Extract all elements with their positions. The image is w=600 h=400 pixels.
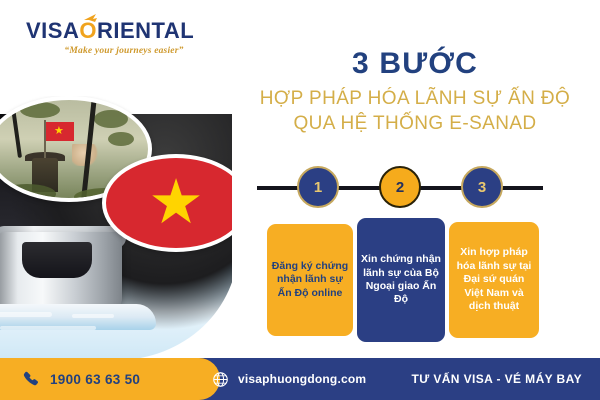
step-timeline: 1 2 3 (255, 166, 545, 210)
step-marker-1[interactable]: 1 (297, 166, 339, 208)
page-subtitle-line1: HỢP PHÁP HÓA LÃNH SỰ ẤN ĐỘ (240, 86, 590, 112)
footer-slogan: TƯ VẤN VISA - VÉ MÁY BAY (412, 358, 582, 400)
press-head (22, 242, 92, 278)
foliage (108, 132, 134, 146)
globe-icon (212, 371, 229, 388)
brand-logo[interactable]: VISA O RIENTAL “Make your journeys easie… (26, 20, 226, 56)
brand-o-letter: O (79, 20, 97, 42)
step-marker-3[interactable]: 3 (461, 166, 503, 208)
vietnam-flag-small: ★ (46, 122, 74, 141)
step-cards: Đăng ký chứng nhận lãnh sự Ấn Độ online … (267, 218, 542, 343)
footer-website-group[interactable]: visaphuongdong.com (212, 358, 366, 400)
heading-group: 3 BƯỚC HỢP PHÁP HÓA LÃNH SỰ ẤN ĐỘ QUA HỆ… (240, 48, 590, 137)
plate-highlight (72, 314, 114, 318)
footer-bar: 1900 63 63 50 visaphuongdong.com TƯ VẤN … (0, 358, 600, 400)
star-icon: ★ (148, 175, 204, 231)
page-title: 3 BƯỚC (240, 48, 590, 80)
footer-phone-group[interactable]: 1900 63 63 50 (22, 358, 140, 400)
brand-name-part1: VISA (26, 20, 79, 42)
step-card-2[interactable]: Xin chứng nhận lãnh sự của Bộ Ngoại giao… (357, 218, 445, 342)
footer-website-text: visaphuongdong.com (238, 372, 366, 386)
infographic-canvas: VISA O RIENTAL “Make your journeys easie… (0, 0, 600, 400)
footer-phone-number: 1900 63 63 50 (50, 372, 140, 387)
step-marker-2[interactable]: 2 (379, 166, 421, 208)
brand-wordmark: VISA O RIENTAL (26, 20, 226, 42)
photo-collage: ★ ★ (0, 96, 232, 358)
foliage (20, 102, 60, 118)
step-card-1[interactable]: Đăng ký chứng nhận lãnh sự Ấn Độ online (267, 224, 353, 336)
foliage (94, 110, 128, 128)
brand-tagline: “Make your journeys easier” (26, 46, 222, 56)
plate-highlight (0, 312, 52, 317)
airplane-icon (83, 13, 99, 23)
plate-highlight (0, 326, 96, 330)
step-card-3[interactable]: Xin hợp pháp hóa lãnh sự tại Đại sứ quán… (449, 222, 539, 338)
star-icon: ★ (54, 126, 64, 137)
brand-name-part2: RIENTAL (97, 20, 194, 42)
phone-icon (22, 370, 41, 389)
page-subtitle-line2: QUA HỆ THỐNG E-SANAD (240, 111, 590, 137)
